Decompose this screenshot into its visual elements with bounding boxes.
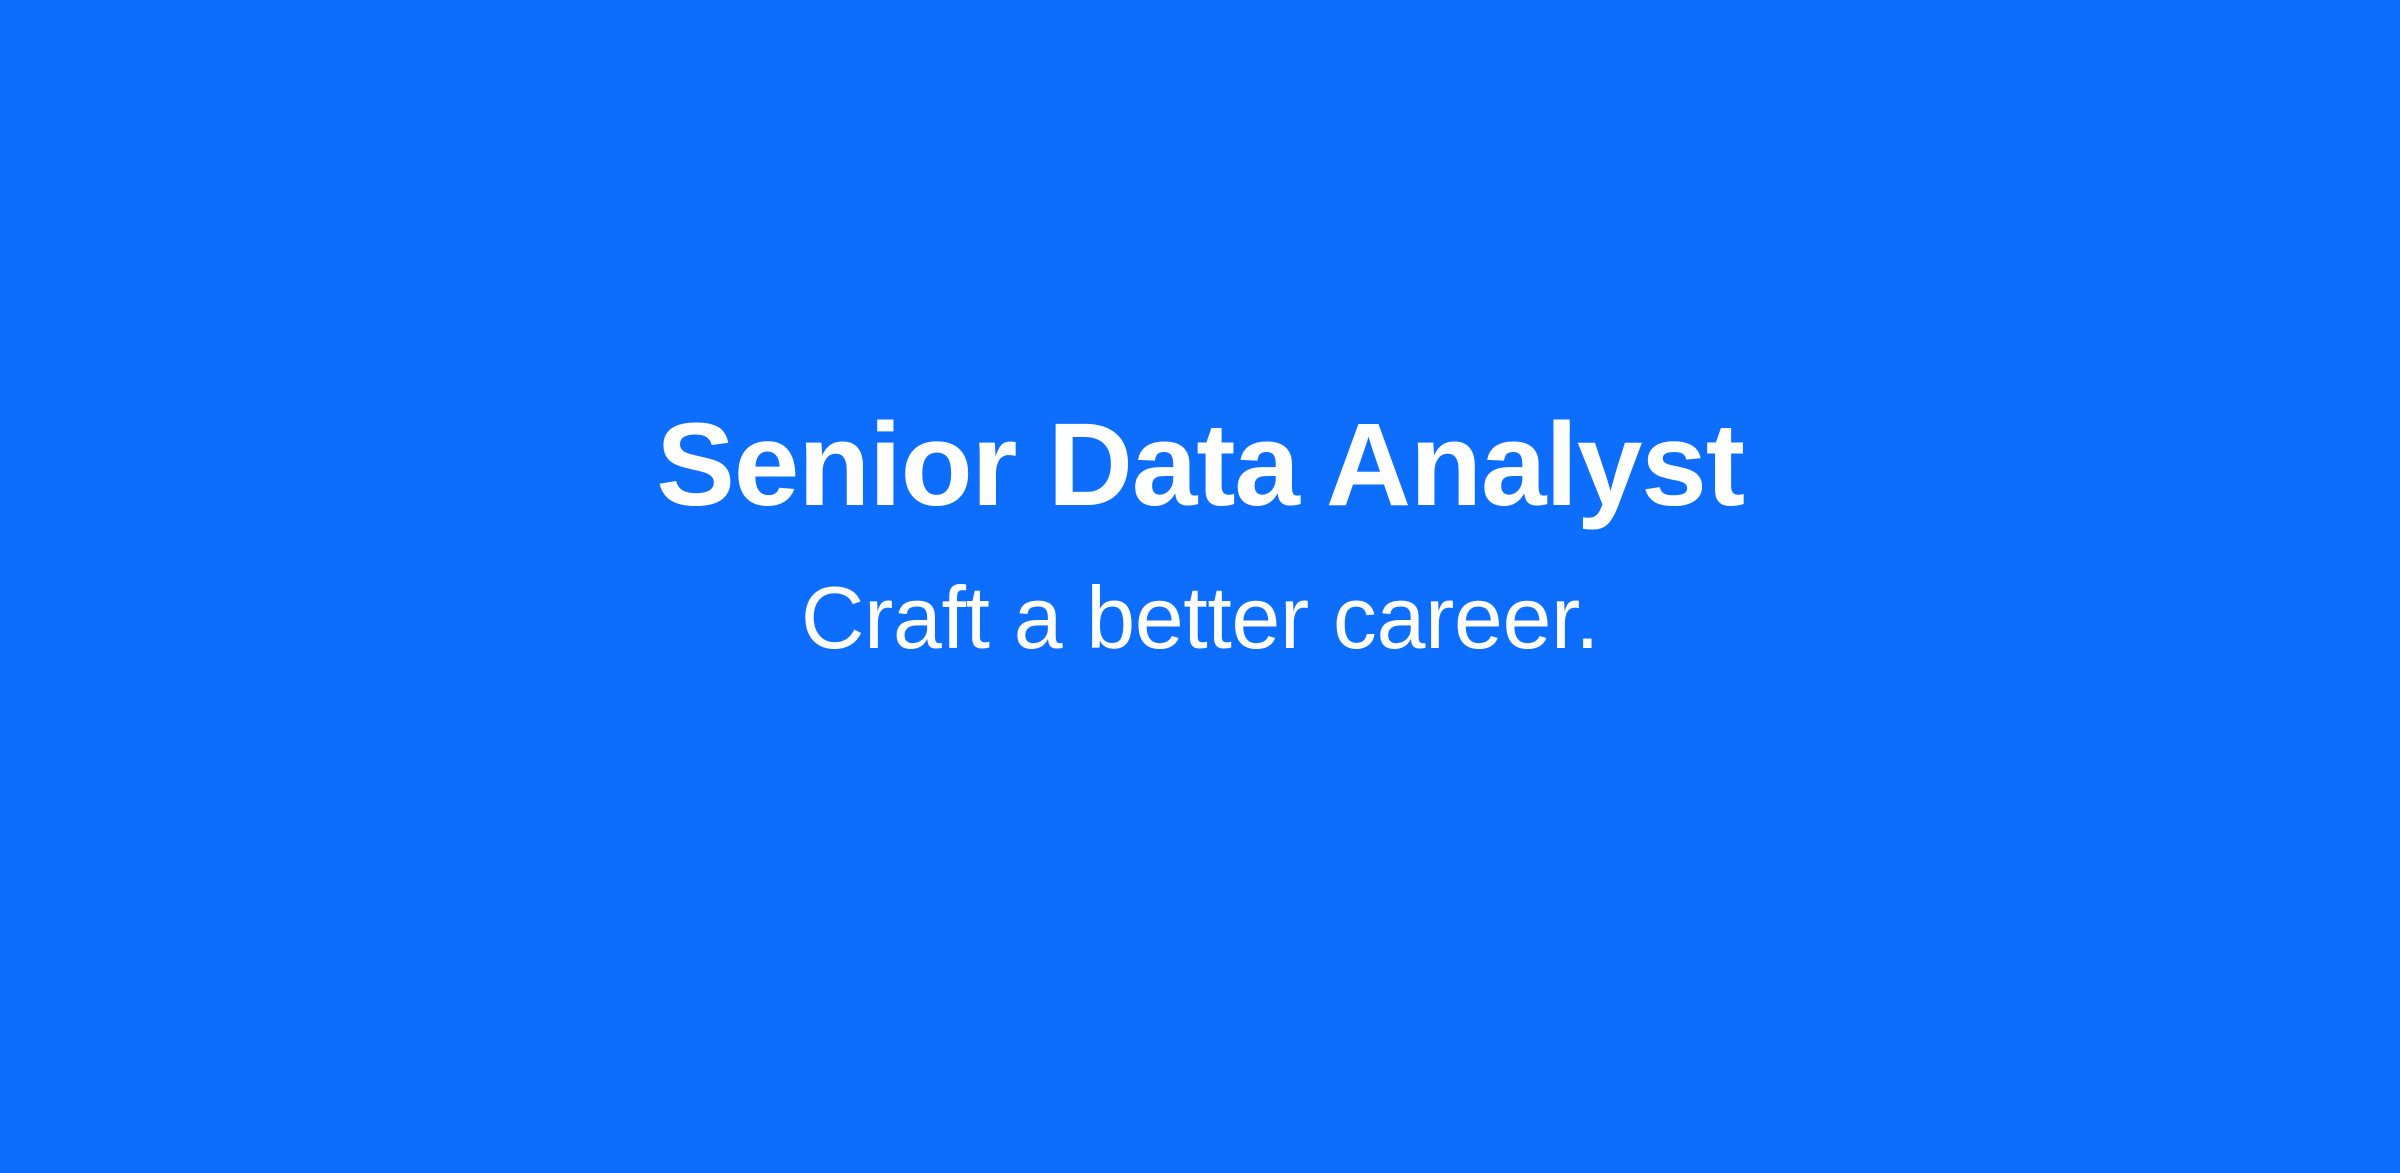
page-subtitle: Craft a better career. — [801, 574, 1599, 662]
hero-banner: Senior Data Analyst Craft a better caree… — [0, 0, 2400, 1173]
page-title: Senior Data Analyst — [656, 406, 1744, 524]
hero-text-block: Senior Data Analyst Craft a better caree… — [0, 406, 2400, 662]
